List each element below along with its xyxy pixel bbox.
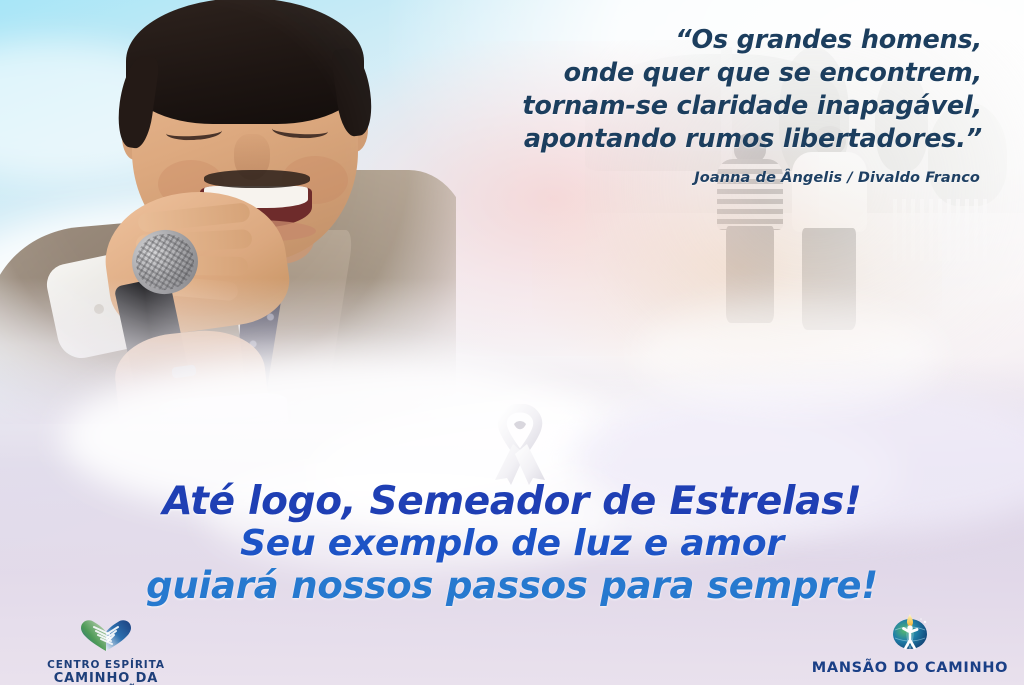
hair	[126, 0, 364, 124]
quote-line-2: onde quer que se encontrem,	[402, 57, 982, 90]
memorial-poster: “Os grandes homens, onde quer que se enc…	[0, 0, 1024, 685]
hands-heart-icon	[8, 618, 204, 657]
logo-mansao-do-caminho[interactable]: MANSÃO DO CAMINHO	[806, 612, 1014, 676]
quote-line-3: tornam-se claridade inapagável,	[402, 90, 982, 123]
quote-line-4: apontando rumos libertadores.”	[402, 123, 982, 156]
logo-left-line-2: CAMINHO DA REDENÇÃO	[8, 672, 204, 685]
quote-block: “Os grandes homens, onde quer que se enc…	[402, 24, 982, 157]
cloud-shape	[635, 301, 942, 411]
photo-fence	[893, 199, 990, 261]
white-mourning-ribbon	[487, 404, 553, 486]
moustache	[204, 170, 310, 188]
headline-block: Até logo, Semeador de Estrelas! Seu exem…	[0, 482, 1024, 604]
quote-line-1: “Os grandes homens,	[402, 24, 982, 57]
logo-centro-espirita-caminho-da-redencao[interactable]: CENTRO ESPÍRITA CAMINHO DA REDENÇÃO	[8, 618, 204, 685]
quote-attribution: Joanna de Ângelis / Divaldo Franco	[420, 170, 980, 186]
headline-line-1: Até logo, Semeador de Estrelas!	[0, 482, 1024, 521]
headline-line-3: guiará nossos passos para sempre!	[0, 567, 1024, 604]
headline-line-2: Seu exemplo de luz e amor	[0, 526, 1024, 562]
photo-person-torso	[792, 152, 867, 232]
photo-person-striped-shirt	[717, 133, 783, 319]
logo-right-line-1: MANSÃO DO CAMINHO	[806, 660, 1014, 676]
globe-figure-flame-icon	[806, 612, 1014, 657]
logo-left-line-1: CENTRO ESPÍRITA	[8, 660, 204, 672]
